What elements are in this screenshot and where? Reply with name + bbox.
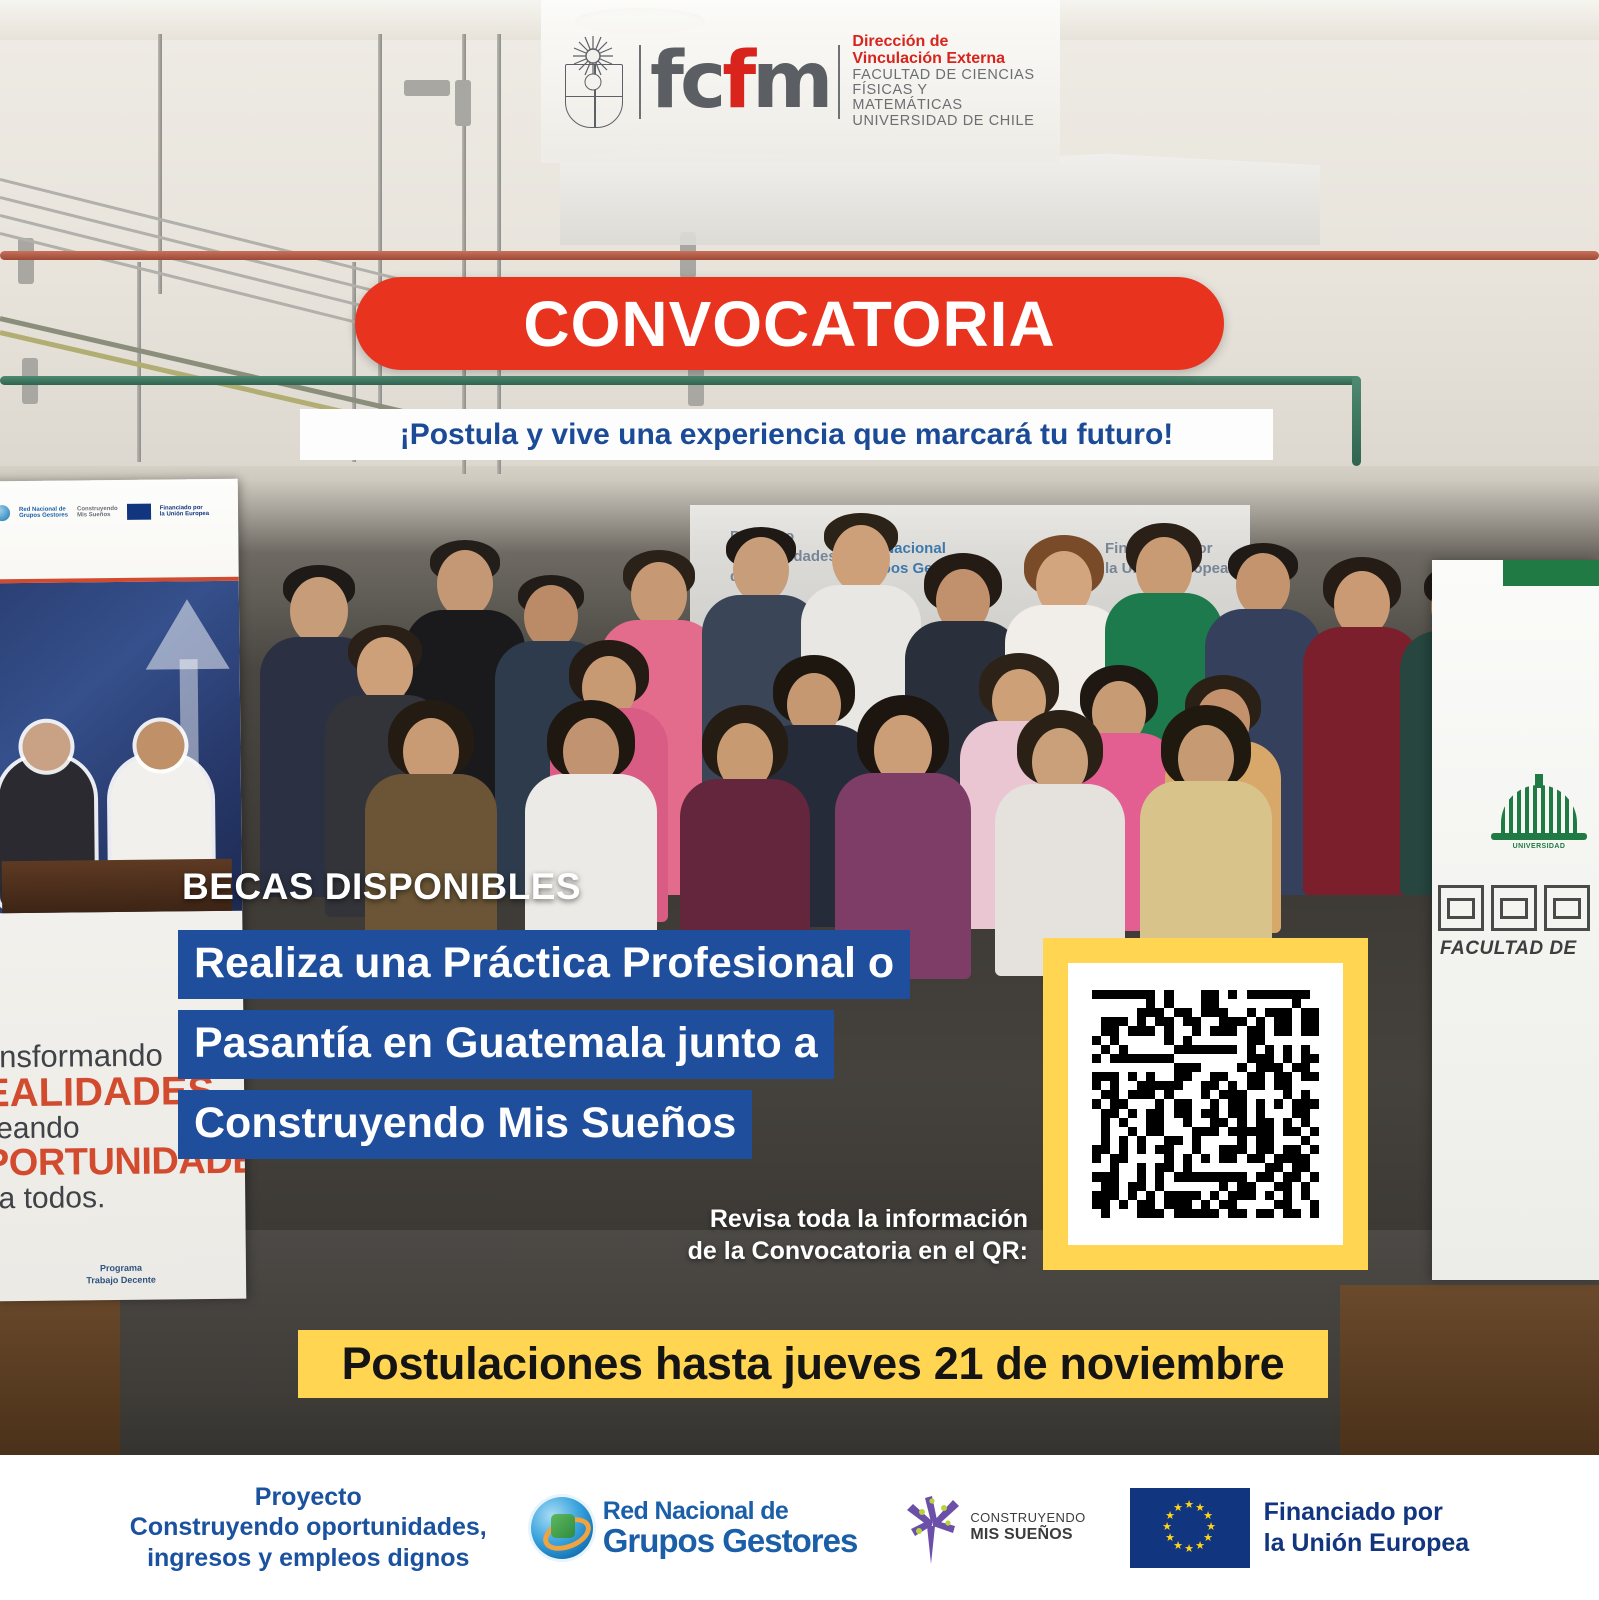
- headline-line-3: Construyendo Mis Sueños: [178, 1090, 752, 1159]
- faculty-label: FACULTAD DE: [1432, 938, 1599, 960]
- qr-card[interactable]: [1043, 938, 1368, 1270]
- fcfm-wordmark: fcfm: [639, 45, 840, 119]
- rngg-wordmark: Red Nacional de Grupos Gestores: [603, 1499, 858, 1557]
- banner-icon-row: [1438, 885, 1590, 931]
- chip-icon: [1544, 885, 1590, 931]
- qr-caption-line-2: de la Convocatoria en el QR:: [648, 1236, 1028, 1268]
- floor-wood-right: [1340, 1285, 1599, 1455]
- eu-flag-icon: [127, 504, 151, 520]
- faculty-line-1: FACULTAD DE CIENCIAS: [852, 68, 1042, 83]
- subtitle-text: ¡Postula y vive una experiencia que marc…: [400, 418, 1174, 452]
- globe-icon: [531, 1497, 593, 1559]
- cms-line-2: MIS SUEÑOS: [970, 1526, 1085, 1544]
- eu-star-icon: ★: [1195, 1541, 1205, 1552]
- qr-quiet-zone: [1068, 963, 1343, 1245]
- globe-icon: [0, 505, 10, 521]
- pipe-hanger: [378, 34, 382, 434]
- qr-caption-line-1: Revisa toda la información: [648, 1204, 1028, 1236]
- floor-wood-left: [0, 1285, 120, 1455]
- wordmark-rule-left: [639, 45, 641, 119]
- rollup-logo-label: Red Nacional deGrupos Gestores: [19, 506, 68, 519]
- convocatoria-pill: CONVOCATORIA: [355, 277, 1224, 370]
- qr-caption: Revisa toda la información de la Convoca…: [648, 1204, 1028, 1267]
- project-block: Proyecto Construyendo oportunidades, ing…: [130, 1482, 487, 1574]
- university-seal-icon: UNIVERSIDAD: [1483, 775, 1595, 863]
- letter-f: f: [650, 36, 680, 126]
- dome-icon: [1501, 785, 1577, 833]
- eu-line-1: Financiado por: [1264, 1497, 1470, 1528]
- rngg-line-2: Grupos Gestores: [603, 1524, 858, 1557]
- letter-f-red: f: [722, 36, 752, 126]
- project-line-3: ingresos y empleos dignos: [130, 1543, 487, 1574]
- project-line-2: Construyendo oportunidades,: [130, 1512, 487, 1543]
- starburst-person-icon: [901, 1492, 963, 1564]
- universidad-de-chile-shield-icon: [559, 34, 627, 130]
- eu-star-icon: ★: [1173, 1503, 1183, 1514]
- european-union-funding-logo: ★★★★★★★★★★★★ Financiado por la Unión Eur…: [1130, 1488, 1470, 1568]
- right-banner: UNIVERSIDAD FACULTAD DE: [1432, 560, 1599, 1280]
- eu-star-icon: ★: [1184, 1500, 1194, 1511]
- rollup-logo-strip: Red Nacional deGrupos Gestores Construye…: [0, 497, 232, 527]
- shield-center-medallion: [585, 73, 602, 90]
- rollup-logo-label-2: ConstruyendoMis Sueños: [77, 506, 118, 519]
- pipe-clamp: [455, 80, 471, 126]
- monitor-icon: [1491, 885, 1537, 931]
- eu-wordmark: Financiado por la Unión Europea: [1264, 1497, 1470, 1558]
- rollup-program-label-2: Trabajo Decente: [6, 1273, 236, 1288]
- qr-code[interactable]: [1092, 990, 1320, 1218]
- poster-root: Proyecto Oportunidades dignos RedNaciona…: [0, 0, 1599, 1600]
- footer: Proyecto Construyendo oportunidades, ing…: [0, 1455, 1599, 1600]
- eu-star-icon: ★: [1162, 1522, 1172, 1533]
- eu-line-2: la Unión Europea: [1264, 1528, 1470, 1559]
- construyendo-mis-suenos-logo: CONSTRUYENDO MIS SUEÑOS: [901, 1492, 1085, 1564]
- rollup-footer: Programa Trabajo Decente: [6, 1260, 236, 1287]
- rollup-line-5: para todos.: [0, 1180, 245, 1216]
- deadline-text: Postulaciones hasta jueves 21 de noviemb…: [342, 1338, 1285, 1390]
- deadline-band: Postulaciones hasta jueves 21 de noviemb…: [298, 1330, 1328, 1398]
- circuit-icon: [1438, 885, 1484, 931]
- rollup-hero-image: [0, 577, 242, 914]
- green-pipe: [0, 376, 1360, 385]
- department-line-2: Vinculación Externa: [852, 51, 1042, 68]
- banner-green-block: [1503, 560, 1599, 586]
- red-pipe: [0, 251, 1599, 260]
- headline-line-2: Pasantía en Guatemala junto a: [178, 1010, 834, 1079]
- fcfm-letters: fcfm: [650, 50, 829, 114]
- pipe-clamp: [404, 80, 450, 96]
- fcfm-department-text: Dirección de Vinculación Externa FACULTA…: [852, 34, 1042, 129]
- letter-m: m: [752, 36, 829, 126]
- rngg-line-1: Red Nacional de: [603, 1499, 858, 1524]
- cms-line-1: CONSTRUYENDO: [970, 1511, 1085, 1526]
- wordmark-rule-right: [838, 45, 840, 119]
- cms-wordmark: CONSTRUYENDO MIS SUEÑOS: [970, 1511, 1085, 1543]
- pipe-clamp: [18, 238, 34, 284]
- green-pipe-drop: [1352, 376, 1361, 466]
- headline-line-1: Realiza una Práctica Profesional o: [178, 930, 910, 999]
- red-nacional-grupos-gestores-logo: Red Nacional de Grupos Gestores: [531, 1497, 858, 1559]
- headline-block: Realiza una Práctica Profesional o Pasan…: [178, 930, 910, 1170]
- becas-kicker: BECAS DISPONIBLES: [182, 866, 581, 908]
- dome-base: [1491, 833, 1587, 840]
- wall-panel: [560, 150, 1320, 245]
- department-line-1: Dirección de: [852, 34, 1042, 51]
- faculty-line-3: UNIVERSIDAD DE CHILE: [852, 114, 1042, 129]
- seal-label: UNIVERSIDAD: [1483, 843, 1595, 850]
- subtitle-band: ¡Postula y vive una experiencia que marc…: [300, 409, 1273, 460]
- eu-flag-icon: ★★★★★★★★★★★★: [1130, 1488, 1250, 1568]
- eu-star-icon: ★: [1184, 1544, 1194, 1555]
- convocatoria-label: CONVOCATORIA: [523, 287, 1055, 361]
- fcfm-logo-header: fcfm Dirección de Vinculación Externa FA…: [541, 0, 1060, 163]
- letter-c: c: [680, 36, 722, 126]
- rollup-eu-label: Financiado porla Unión Europea: [160, 505, 209, 518]
- eu-star-icon: ★: [1165, 1533, 1175, 1544]
- project-line-1: Proyecto: [130, 1482, 487, 1513]
- faculty-line-2: FÍSICAS Y MATEMÁTICAS: [852, 83, 1042, 114]
